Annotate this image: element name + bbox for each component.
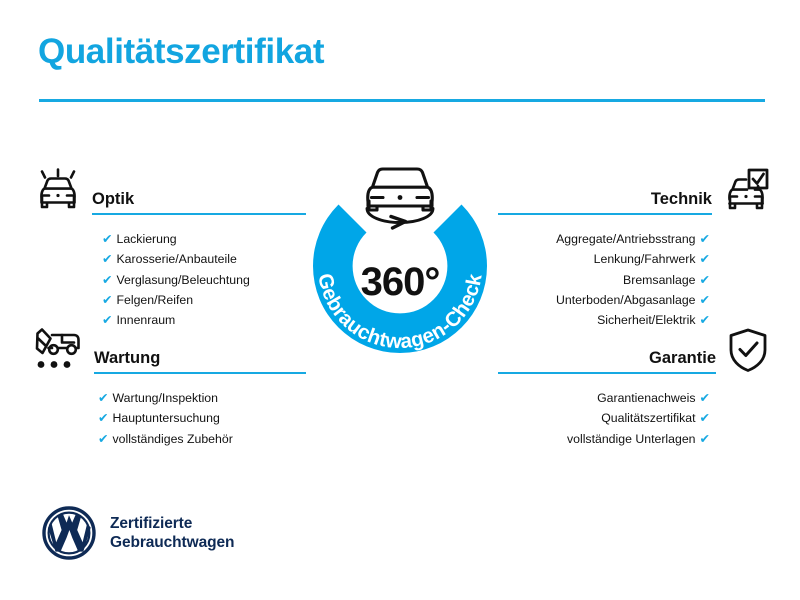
check-icon: ✔	[98, 412, 108, 425]
section-optik-title: Optik	[92, 190, 306, 212]
section-wartung-list: ✔Wartung/Inspektion ✔Hauptuntersuchung ✔…	[30, 388, 306, 449]
badge-360-check: Gebrauchtwagen-Check 360°	[290, 156, 510, 376]
check-icon: ✔	[700, 274, 710, 287]
list-item: Aggregate/Antriebsstrang✔	[498, 229, 710, 249]
section-technik-header: Technik	[498, 163, 770, 215]
brand-line-1: Zertifizierte	[110, 514, 234, 533]
section-optik-title-wrap: Optik	[92, 190, 306, 215]
check-icon: ✔	[102, 233, 112, 246]
check-icon: ✔	[98, 433, 108, 446]
page-title: Qualitätszertifikat	[38, 34, 324, 71]
check-icon: ✔	[102, 274, 112, 287]
section-wartung-title-wrap: Wartung	[94, 349, 306, 374]
section-garantie: Garantie Garantienachweis✔ Qualitätszert…	[498, 322, 770, 449]
volkswagen-logo	[42, 506, 96, 560]
section-garantie-list: Garantienachweis✔ Qualitätszertifikat✔ v…	[498, 388, 770, 449]
list-item-label: Hauptuntersuchung	[112, 408, 219, 428]
list-item-label: Qualitätszertifikat	[601, 408, 695, 428]
badge-value: 360°	[290, 260, 510, 305]
brand-line-2: Gebrauchtwagen	[110, 533, 234, 552]
list-item: vollständige Unterlagen✔	[498, 429, 710, 449]
car-shine-icon	[34, 167, 82, 215]
list-item: ✔Lackierung	[102, 229, 306, 249]
section-wartung: Wartung ✔Wartung/Inspektion ✔Hauptunters…	[30, 322, 306, 449]
check-icon: ✔	[102, 253, 112, 266]
section-optik-list: ✔Lackierung ✔Karosserie/Anbauteile ✔Verg…	[34, 229, 306, 330]
section-optik-header: Optik	[34, 163, 306, 215]
list-item: Bremsanlage✔	[498, 270, 710, 290]
section-garantie-title: Garantie	[498, 349, 716, 371]
list-item-label: Aggregate/Antriebsstrang	[556, 229, 695, 249]
section-technik: Technik Aggregate/Antriebsstrang✔ Lenkun…	[498, 163, 770, 330]
section-optik: Optik ✔Lackierung ✔Karosserie/Anbauteile…	[34, 163, 306, 330]
list-item-label: Garantienachweis	[597, 388, 695, 408]
check-icon: ✔	[700, 392, 710, 405]
section-wartung-header: Wartung	[30, 322, 306, 374]
section-garantie-title-wrap: Garantie	[498, 349, 716, 374]
list-item: ✔Felgen/Reifen	[102, 290, 306, 310]
list-item-label: Karosserie/Anbauteile	[116, 249, 236, 269]
section-garantie-header: Garantie	[498, 322, 770, 374]
section-technik-list: Aggregate/Antriebsstrang✔ Lenkung/Fahrwe…	[498, 229, 770, 330]
shield-check-icon	[726, 326, 770, 374]
list-item: Lenkung/Fahrwerk✔	[498, 249, 710, 269]
car-service-record-icon	[30, 326, 84, 374]
list-item-label: Felgen/Reifen	[116, 290, 193, 310]
list-item-label: Lenkung/Fahrwerk	[594, 249, 696, 269]
list-item-label: Wartung/Inspektion	[112, 388, 218, 408]
brand-lockup: Zertifizierte Gebrauchtwagen	[42, 506, 234, 560]
list-item-label: vollständiges Zubehör	[112, 429, 232, 449]
check-icon: ✔	[700, 294, 710, 307]
section-technik-title: Technik	[498, 190, 712, 212]
list-item: ✔Wartung/Inspektion	[98, 388, 306, 408]
section-optik-underline	[92, 213, 306, 216]
list-item: Unterboden/Abgasanlage✔	[498, 290, 710, 310]
list-item: ✔vollständiges Zubehör	[98, 429, 306, 449]
list-item: Garantienachweis✔	[498, 388, 710, 408]
brand-text: Zertifizierte Gebrauchtwagen	[110, 514, 234, 552]
check-icon: ✔	[700, 412, 710, 425]
list-item: ✔Karosserie/Anbauteile	[102, 249, 306, 269]
car-rotate-360-icon	[353, 160, 447, 232]
check-icon: ✔	[700, 253, 710, 266]
car-checkbox-icon	[722, 167, 770, 215]
list-item: ✔Verglasung/Beleuchtung	[102, 270, 306, 290]
list-item-label: vollständige Unterlagen	[567, 429, 696, 449]
title-divider	[39, 99, 765, 102]
section-technik-title-wrap: Technik	[498, 190, 712, 215]
list-item-label: Bremsanlage	[623, 270, 695, 290]
certificate-page: Qualitätszertifikat Optik ✔La	[0, 0, 800, 600]
list-item: ✔Hauptuntersuchung	[98, 408, 306, 428]
check-icon: ✔	[102, 294, 112, 307]
list-item-label: Lackierung	[116, 229, 176, 249]
section-wartung-underline	[94, 372, 306, 375]
section-garantie-underline	[498, 372, 716, 375]
section-wartung-title: Wartung	[94, 349, 306, 371]
list-item-label: Verglasung/Beleuchtung	[116, 270, 249, 290]
list-item: Qualitätszertifikat✔	[498, 408, 710, 428]
check-icon: ✔	[700, 233, 710, 246]
check-icon: ✔	[98, 392, 108, 405]
check-icon: ✔	[700, 433, 710, 446]
list-item-label: Unterboden/Abgasanlage	[556, 290, 695, 310]
section-technik-underline	[498, 213, 712, 216]
